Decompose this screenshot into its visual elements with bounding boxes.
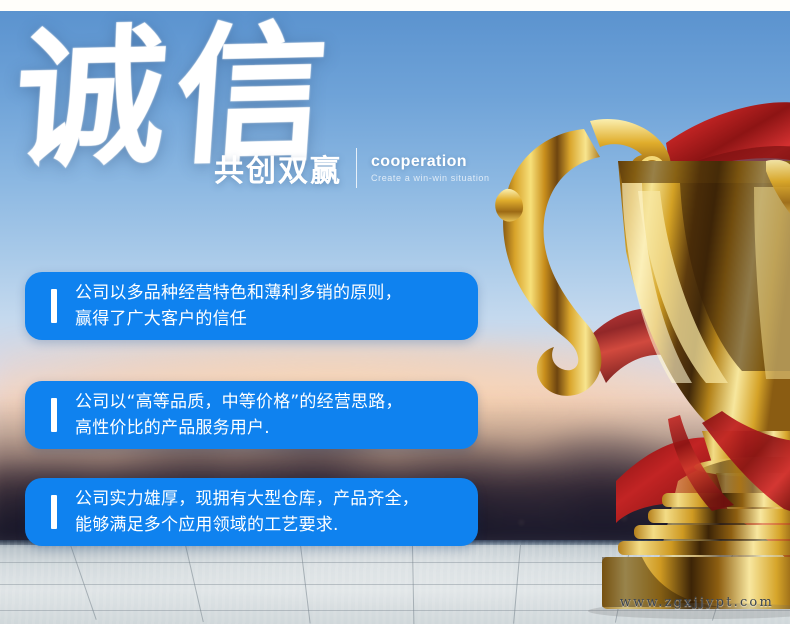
feature-text-3: 公司实力雄厚，现拥有大型仓库，产品齐全， 能够满足多个应用领域的工艺要求. bbox=[75, 486, 419, 539]
feature-item-2: 公司以“高等品质，中等价格”的经营思路， 高性价比的产品服务用户. bbox=[25, 381, 478, 449]
watermark-url: www.zgxjjypt.com bbox=[620, 595, 774, 610]
feature-text-1: 公司以多品种经营特色和薄利多销的原则， 赢得了广大客户的信任 bbox=[75, 280, 402, 333]
feature-text-2: 公司以“高等品质，中等价格”的经营思路， 高性价比的产品服务用户. bbox=[75, 389, 403, 442]
vertical-bar-icon bbox=[51, 289, 57, 323]
feature-item-1: 公司以多品种经营特色和薄利多销的原则， 赢得了广大客户的信任 bbox=[25, 272, 478, 340]
feature-list: 公司以多品种经营特色和薄利多销的原则， 赢得了广大客户的信任 公司以“高等品质，… bbox=[0, 0, 790, 624]
vertical-bar-icon bbox=[51, 495, 57, 529]
top-white-strip bbox=[0, 0, 790, 11]
vertical-bar-icon bbox=[51, 398, 57, 432]
feature-item-3: 公司实力雄厚，现拥有大型仓库，产品齐全， 能够满足多个应用领域的工艺要求. bbox=[25, 478, 478, 546]
promo-banner: 诚信 共创双赢 cooperation Create a win-win sit… bbox=[0, 0, 790, 624]
